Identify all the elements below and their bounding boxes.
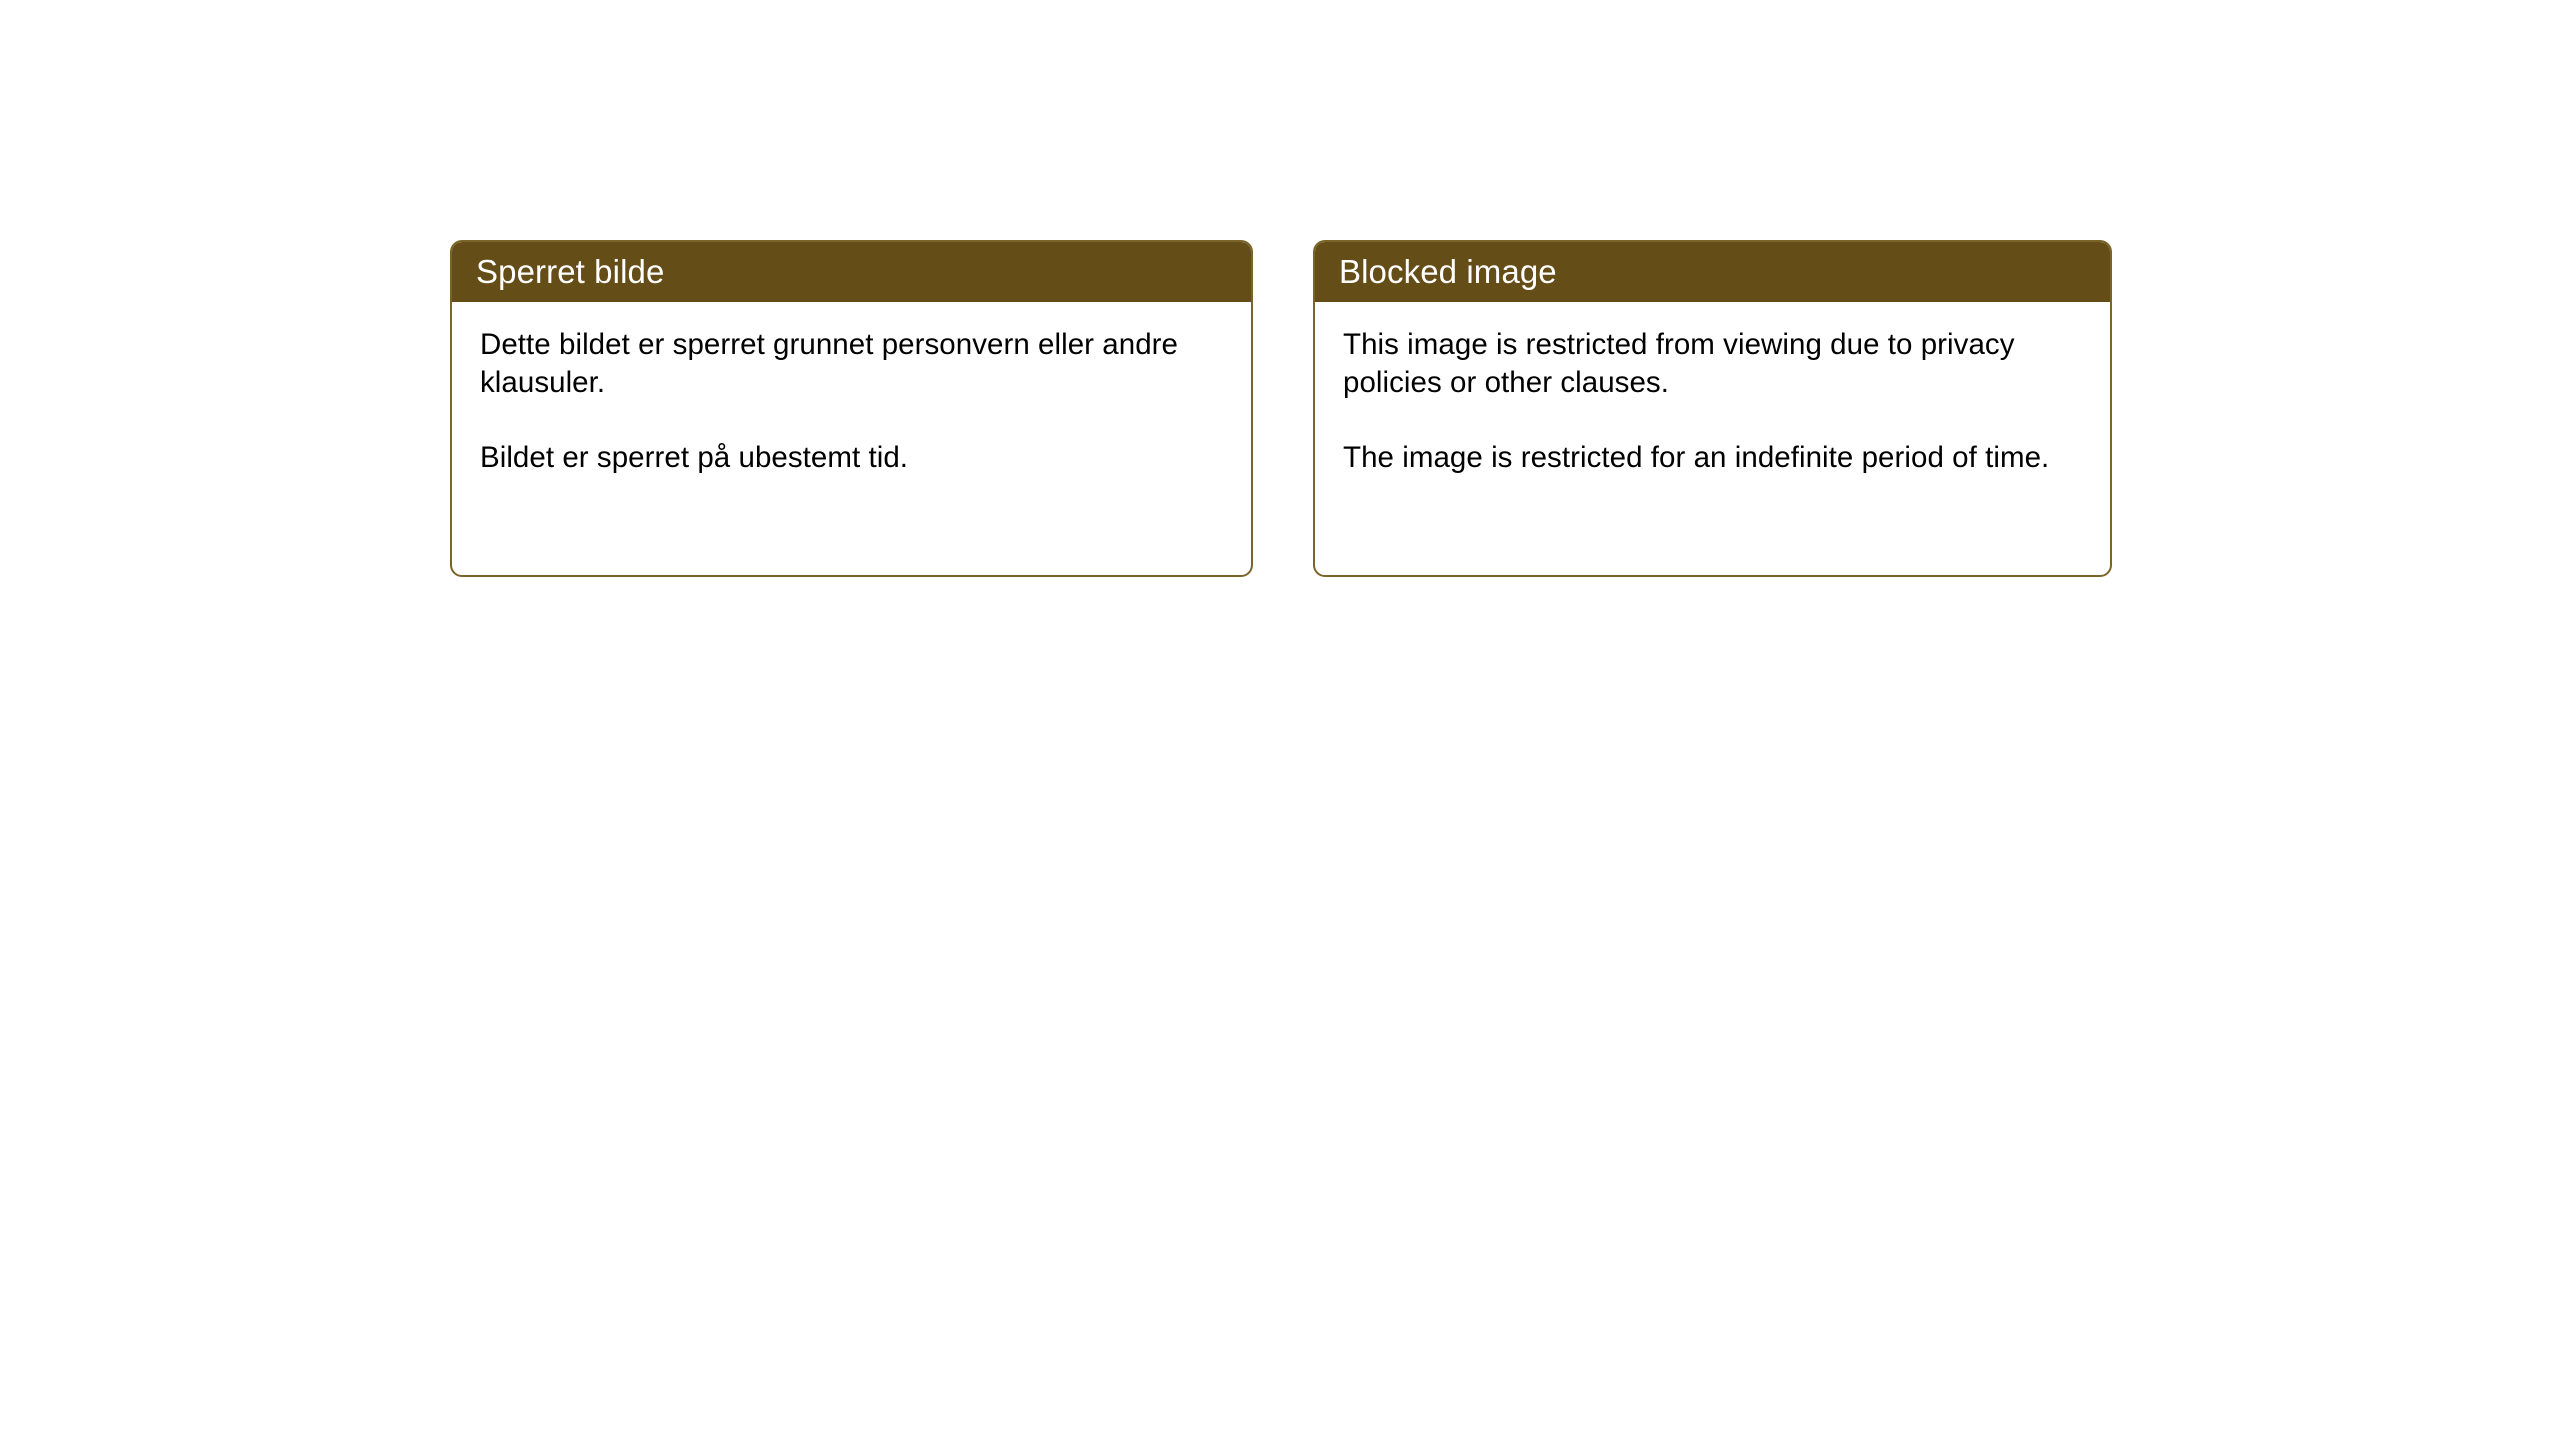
card-paragraph-duration-norwegian: Bildet er sperret på ubestemt tid. bbox=[480, 439, 1225, 477]
card-paragraph-duration-english: The image is restricted for an indefinit… bbox=[1343, 439, 2084, 477]
card-header-norwegian: Sperret bilde bbox=[450, 240, 1253, 302]
blocked-image-card-norwegian: Sperret bilde Dette bildet er sperret gr… bbox=[450, 240, 1253, 577]
card-body-english: This image is restricted from viewing du… bbox=[1315, 302, 2110, 477]
card-body-norwegian: Dette bildet er sperret grunnet personve… bbox=[452, 302, 1251, 477]
card-title-english: Blocked image bbox=[1339, 255, 1557, 288]
card-paragraph-reason-norwegian: Dette bildet er sperret grunnet personve… bbox=[480, 326, 1225, 403]
card-header-english: Blocked image bbox=[1313, 240, 2112, 302]
card-title-norwegian: Sperret bilde bbox=[476, 255, 664, 288]
notice-stage: Sperret bilde Dette bildet er sperret gr… bbox=[0, 0, 2560, 1440]
card-paragraph-reason-english: This image is restricted from viewing du… bbox=[1343, 326, 2084, 403]
blocked-image-card-english: Blocked image This image is restricted f… bbox=[1313, 240, 2112, 577]
